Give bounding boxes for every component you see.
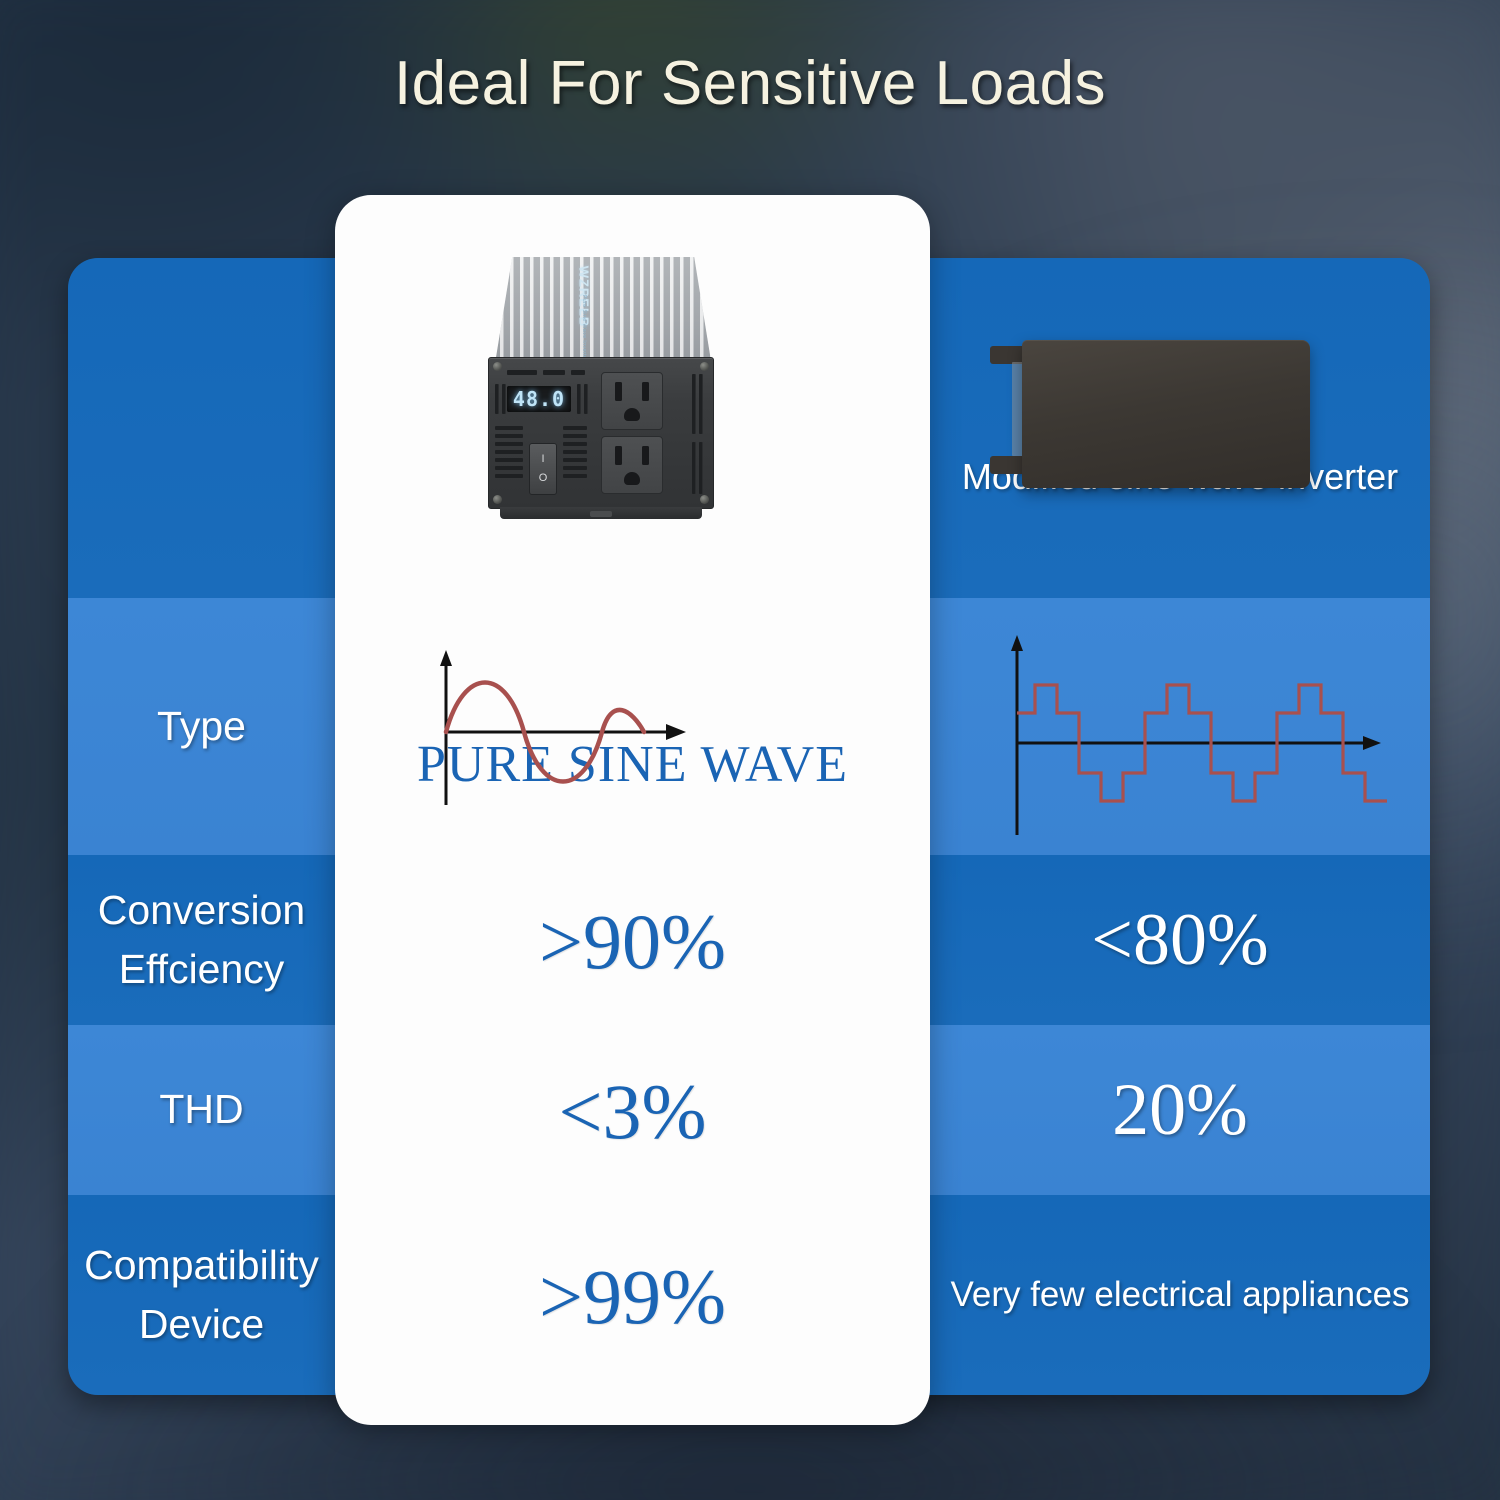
- outlet-slot-left: [615, 382, 622, 401]
- vent-slot: [495, 458, 523, 462]
- vent-slot: [584, 384, 588, 414]
- ac-outlet-bottom: [601, 436, 663, 494]
- right-value-conversion-efficiency: <80%: [1091, 903, 1268, 977]
- center-value-conversion-efficiency-wrap: >90%: [335, 857, 930, 1027]
- vent-slot: [495, 466, 523, 470]
- vent-slot: [563, 458, 587, 462]
- right-cell-compatibility-device: Very few electrical appliances: [930, 1195, 1430, 1395]
- x-axis-arrowhead: [666, 724, 686, 740]
- screw-top-left: [493, 362, 502, 371]
- vent-slot: [495, 434, 523, 438]
- ac-outlet-top: [601, 372, 663, 430]
- vent-slot: [495, 450, 523, 454]
- right-value-thd: 20%: [1112, 1073, 1248, 1147]
- pure-sine-inverter-photo: WZRELB Pure Sine Wave Inverter 48.0: [472, 257, 728, 525]
- inverter-body: [1022, 340, 1310, 488]
- vent-slot: [502, 384, 506, 414]
- vent-group-right-column-lower: [692, 442, 703, 494]
- row-label-compatibility-device: Compatibility Device: [68, 1195, 335, 1395]
- outlet-ground-hole: [624, 408, 640, 421]
- screw-top-right: [700, 362, 709, 371]
- vent-bar-2: [543, 370, 565, 375]
- vent-slot: [699, 442, 703, 494]
- x-axis-arrowhead: [1363, 736, 1381, 750]
- inverter-brand-label: WZRELB Pure Sine Wave Inverter: [548, 259, 620, 363]
- modified-sine-wave-chart: [995, 625, 1395, 845]
- screw-bottom-right: [700, 495, 709, 504]
- vent-group-right-of-display: [577, 384, 588, 414]
- center-value-conversion-efficiency: >90%: [539, 903, 726, 981]
- vent-slot: [495, 384, 499, 414]
- pure-sine-highlight-card: WZRELB Pure Sine Wave Inverter 48.0: [335, 195, 930, 1425]
- switch-off-marking: O: [539, 473, 548, 484]
- brand-sub-text: Pure Sine Wave Inverter: [581, 295, 587, 362]
- vent-group-right-column: [692, 374, 703, 434]
- vent-bar-1: [507, 370, 537, 375]
- y-axis-arrowhead: [440, 650, 452, 666]
- vent-slot: [563, 450, 587, 454]
- vent-slot: [563, 434, 587, 438]
- modified-sine-inverter-photo: [990, 340, 1310, 488]
- vent-slot: [692, 374, 696, 434]
- header-left-spacer: [68, 258, 335, 598]
- row-label-type: Type: [68, 598, 335, 855]
- vent-slot: [495, 474, 523, 478]
- row-label-thd: THD: [68, 1025, 335, 1195]
- screw-bottom-left: [493, 495, 502, 504]
- inverter-mounting-base: [500, 507, 702, 519]
- power-rocker-switch[interactable]: I O: [529, 443, 557, 495]
- outlet-slot-left: [615, 446, 622, 465]
- vent-slot: [563, 442, 587, 446]
- outlet-ground-hole: [624, 472, 640, 485]
- outlet-slot-right: [642, 446, 649, 465]
- center-value-compatibility-device: >99%: [539, 1258, 726, 1336]
- vent-group-left-upper: [495, 384, 506, 414]
- vent-slot: [563, 474, 587, 478]
- pure-sine-wave-chart: [420, 640, 720, 815]
- page-title: Ideal For Sensitive Loads: [0, 48, 1500, 119]
- vent-slot: [692, 442, 696, 494]
- led-display-value: 48.0: [513, 387, 565, 411]
- vent-group-lower-left: [495, 426, 523, 478]
- y-axis-arrowhead: [1011, 635, 1023, 651]
- vent-slot: [563, 426, 587, 430]
- outlet-slot-right: [642, 382, 649, 401]
- led-voltage-display: 48.0: [507, 386, 571, 412]
- vent-slot: [495, 426, 523, 430]
- vent-slot: [563, 466, 587, 470]
- right-cell-conversion-efficiency: <80%: [930, 855, 1430, 1025]
- row-label-conversion-efficiency: Conversion Effciency: [68, 855, 335, 1025]
- switch-on-marking: I: [541, 454, 544, 465]
- right-cell-thd: 20%: [930, 1025, 1430, 1195]
- vent-slot: [495, 442, 523, 446]
- center-value-thd: <3%: [559, 1073, 707, 1151]
- right-value-compatibility-device: Very few electrical appliances: [950, 1272, 1409, 1318]
- center-value-thd-wrap: <3%: [335, 1027, 930, 1197]
- vent-slot: [577, 384, 581, 414]
- vent-slot: [699, 374, 703, 434]
- vent-group-lower-mid: [563, 426, 587, 478]
- inverter-front-face: 48.0: [488, 357, 714, 509]
- center-value-compatibility-device-wrap: >99%: [335, 1197, 930, 1397]
- infographic-stage: Ideal For Sensitive Loads Modifled sine …: [0, 0, 1500, 1500]
- vent-bar-3: [571, 370, 585, 375]
